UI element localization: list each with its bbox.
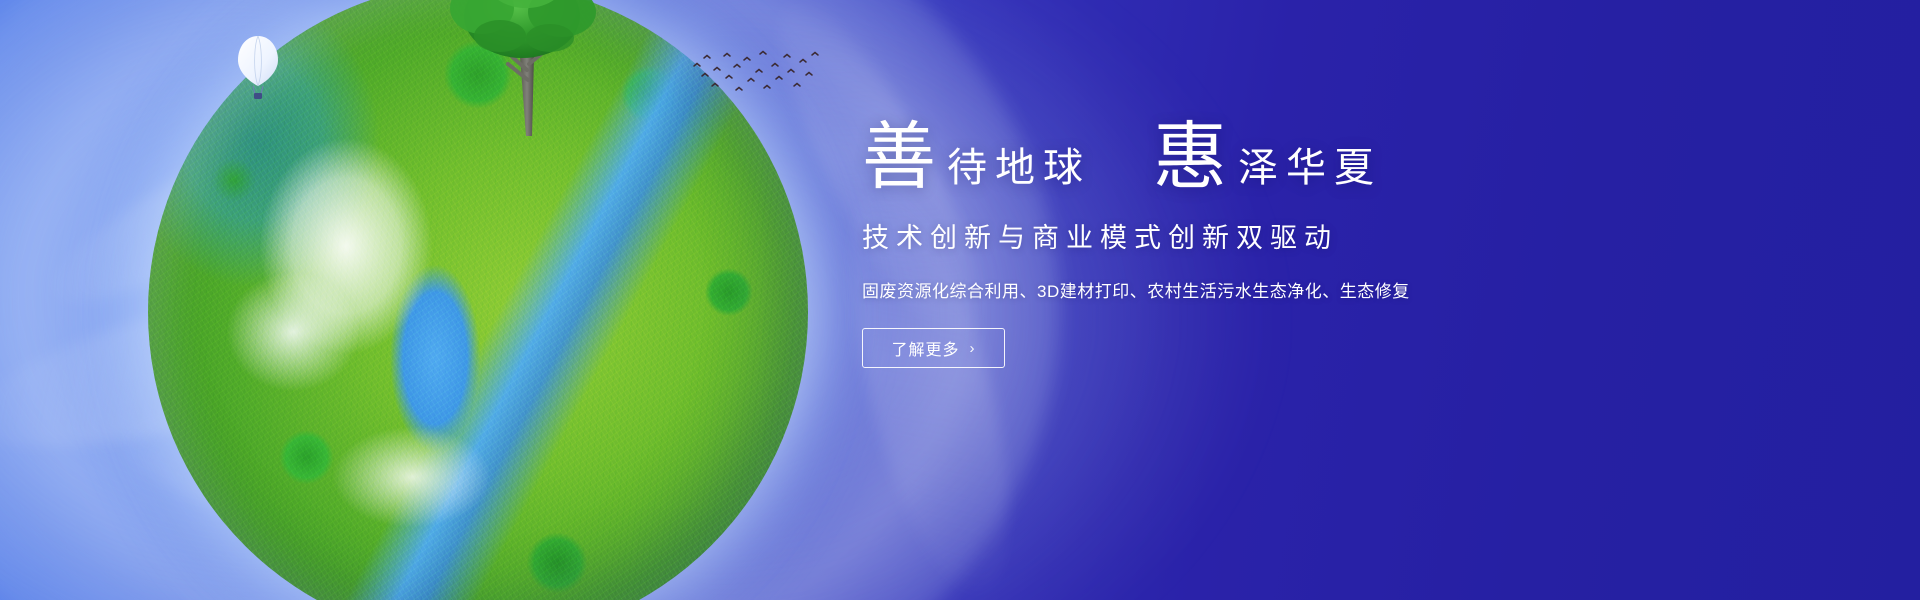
hero-copy: 善 待地球 惠 泽华夏 技术创新与商业模式创新双驱动 固废资源化综合利用、3D建… [862,120,1562,368]
hero-subtitle: 技术创新与商业模式创新双驱动 [862,216,1562,255]
page-title: 善 待地球 惠 泽华夏 [862,120,1562,194]
headline-char-2: 惠 [1153,120,1228,194]
hero-tagline: 固废资源化综合利用、3D建材打印、农村生活污水生态净化、生态修复 [862,277,1562,302]
hero-banner: 善 待地球 惠 泽华夏 技术创新与商业模式创新双驱动 固废资源化综合利用、3D建… [0,0,1920,600]
headline-char-1: 善 [862,120,937,194]
headline-part-1: 待地球 [937,148,1091,194]
planet-illustration [148,0,808,600]
learn-more-button[interactable]: 了解更多 › [862,328,1005,368]
chevron-right-icon: › [970,340,976,357]
green-earth-icon [148,0,808,600]
headline-part-2: 泽华夏 [1228,148,1382,194]
learn-more-label: 了解更多 [891,336,959,360]
